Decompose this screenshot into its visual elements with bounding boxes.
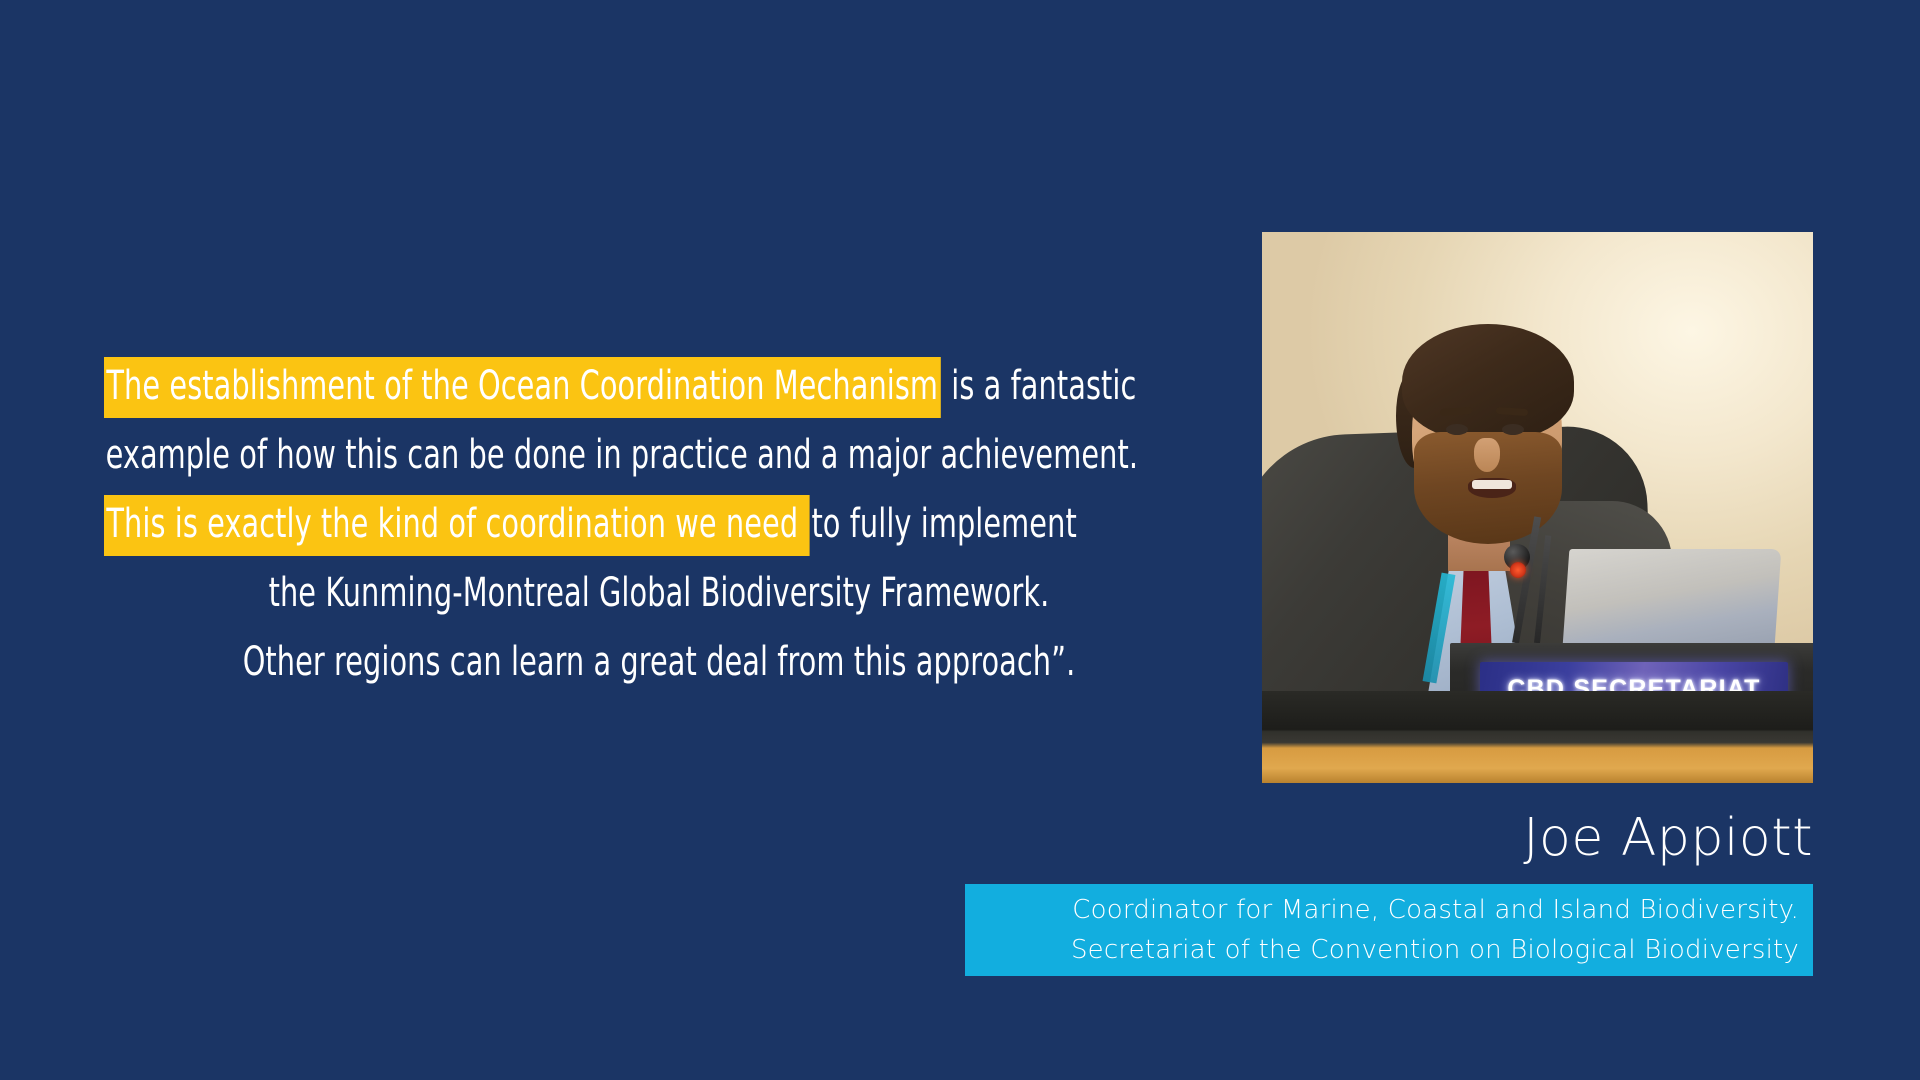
speaker-title-line-2: Secretariat of the Convention on Biologi… [979, 930, 1799, 970]
photo-nose [1474, 438, 1500, 472]
photo-hair [1402, 324, 1574, 440]
speaker-title-banner: Coordinator for Marine, Coastal and Isla… [965, 884, 1813, 976]
quote-line-3-plain: to fully implement [810, 495, 1079, 556]
speaker-photo: CBD SECRETARIAT [1262, 232, 1813, 783]
quote-line-1-highlight: The establishment of the Ocean Coordinat… [104, 357, 940, 418]
photo-eye-right [1502, 424, 1524, 435]
photo-microphone-indicator-light [1510, 562, 1526, 578]
photo-eye-left [1446, 424, 1468, 435]
quote-line-2: example of how this can be done in pract… [104, 421, 992, 490]
photo-desk [1262, 691, 1813, 783]
photo-teeth [1472, 480, 1512, 489]
quote-line-4: the Kunming-Montreal Global Biodiversity… [215, 559, 1103, 628]
quote-line-3: This is exactly the kind of coordination… [104, 490, 992, 559]
quote-line-2-plain: example of how this can be done in pract… [104, 426, 1140, 487]
quote-line-1-plain: is a fantastic [940, 357, 1138, 418]
speaker-title-line-1: Coordinator for Marine, Coastal and Isla… [979, 890, 1799, 930]
quote-line-1: The establishment of the Ocean Coordinat… [104, 352, 992, 421]
quote-line-3-highlight: This is exactly the kind of coordination… [104, 495, 810, 556]
quote-line-5-plain: Other regions can learn a great deal fro… [241, 633, 1077, 694]
quote-block: The establishment of the Ocean Coordinat… [104, 352, 1214, 697]
speaker-name: Joe Appiott [1523, 807, 1813, 869]
quote-line-4-plain: the Kunming-Montreal Global Biodiversity… [267, 564, 1051, 625]
slide-canvas: The establishment of the Ocean Coordinat… [0, 0, 1920, 1080]
quote-line-5: Other regions can learn a great deal fro… [215, 628, 1103, 697]
